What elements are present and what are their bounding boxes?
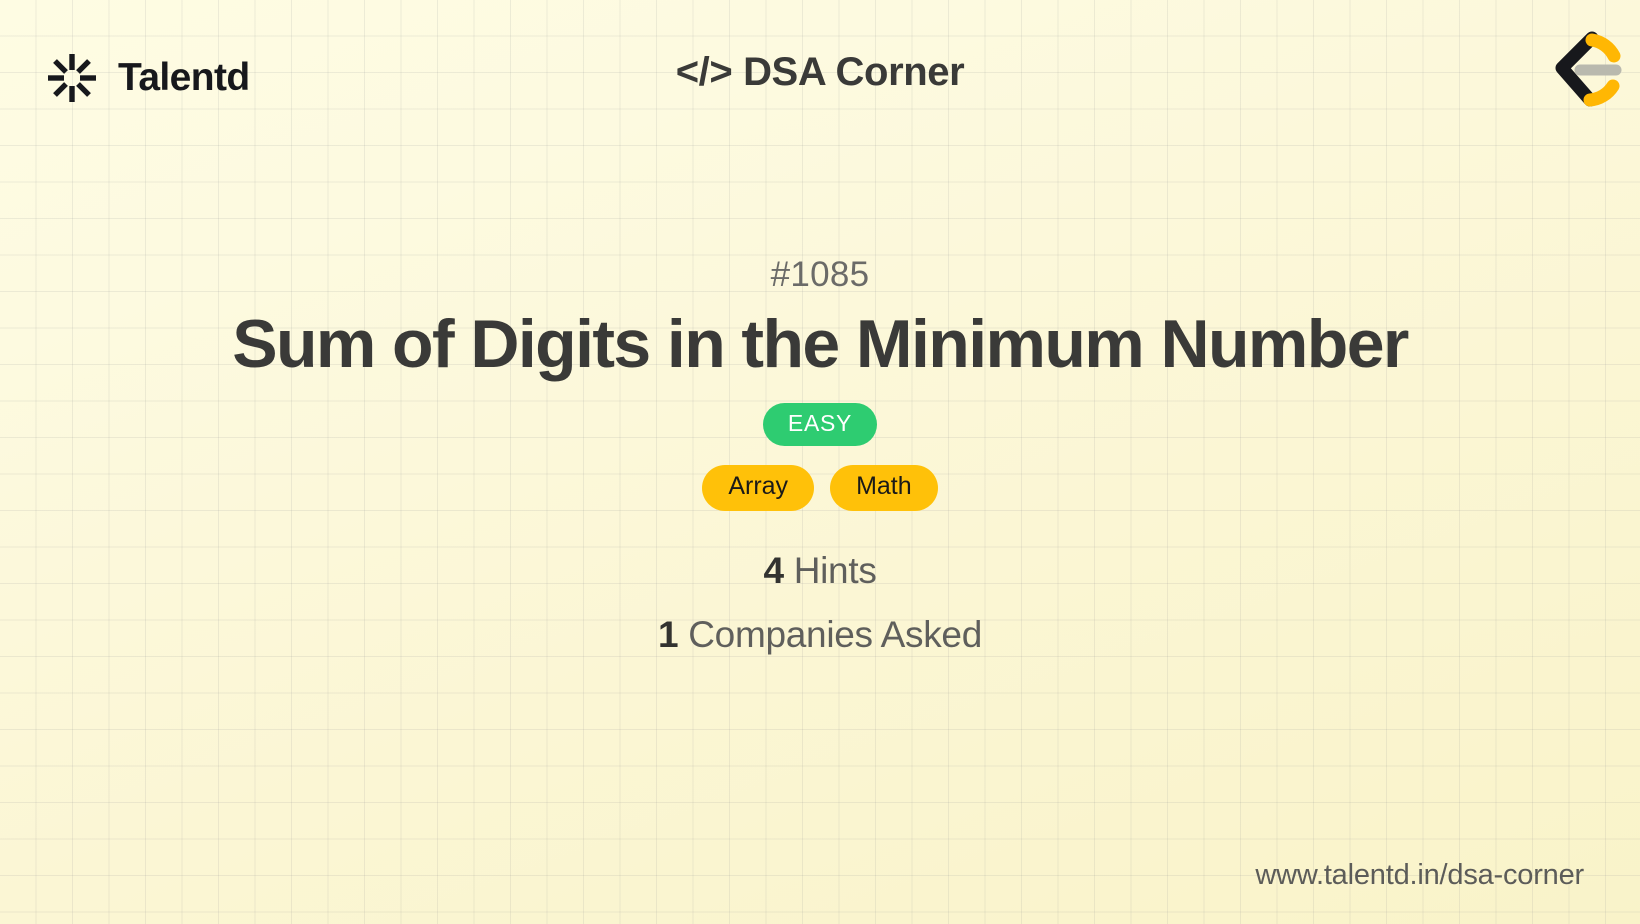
stats-group: 4 Hints 1 Companies Asked [658, 550, 982, 656]
dsa-problem-card: Talentd </> DSA Corner #1085 Sum of Digi… [0, 0, 1640, 924]
footer-url: www.talentd.in/dsa-corner [1255, 859, 1584, 892]
chevron-c-monogram-icon [1528, 28, 1624, 114]
stat-hints-value: 4 [763, 550, 783, 591]
stat-companies-value: 1 [658, 614, 678, 655]
page-title: </> DSA Corner [0, 50, 1640, 95]
problem-number: #1085 [771, 255, 870, 295]
stat-companies: 1 Companies Asked [658, 614, 982, 656]
problem-summary: #1085 Sum of Digits in the Minimum Numbe… [0, 255, 1640, 656]
tag-pill[interactable]: Math [830, 465, 938, 511]
tags-row: Array Math [702, 465, 937, 511]
stat-hints-label: Hints [794, 550, 877, 591]
stat-hints: 4 Hints [763, 550, 876, 592]
stat-companies-label: Companies Asked [688, 614, 982, 655]
difficulty-row: EASY [763, 403, 877, 446]
header: Talentd </> DSA Corner [0, 0, 1640, 155]
tag-pill[interactable]: Array [702, 465, 814, 511]
difficulty-badge: EASY [763, 403, 877, 446]
problem-title: Sum of Digits in the Minimum Number [232, 308, 1408, 381]
